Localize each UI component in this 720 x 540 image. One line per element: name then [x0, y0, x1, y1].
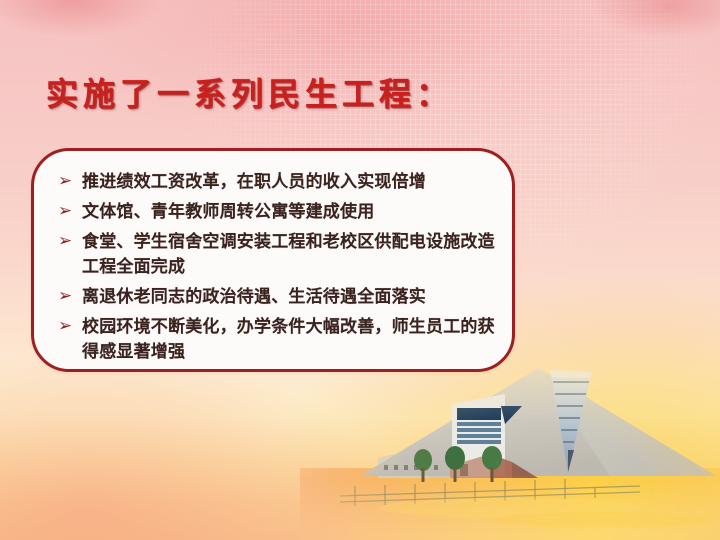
list-item-label: 食堂、学生宿舍空调安装工程和老校区供配电设施改造工程全面完成 [82, 229, 496, 279]
arrow-bullet-icon: ➢ [58, 284, 82, 309]
list-item: ➢ 食堂、学生宿舍空调安装工程和老校区供配电设施改造工程全面完成 [58, 229, 496, 279]
list-item-label: 校园环境不断美化，办学条件大幅改善，师生员工的获得感显著增强 [82, 314, 496, 364]
campus-building-illustration [300, 350, 720, 540]
page-title: 实施了一系列民生工程： [46, 74, 453, 114]
bullet-list: ➢ 推进绩效工资改革，在职人员的收入实现倍增 ➢ 文体馆、青年教师周转公寓等建成… [58, 169, 496, 369]
arrow-bullet-icon: ➢ [58, 199, 82, 224]
list-item-label: 推进绩效工资改革，在职人员的收入实现倍增 [82, 169, 496, 194]
list-item: ➢ 校园环境不断美化，办学条件大幅改善，师生员工的获得感显著增强 [58, 314, 496, 364]
slide-canvas: 实施了一系列民生工程： ➢ 推进绩效工资改革，在职人员的收入实现倍增 ➢ 文体馆… [0, 0, 720, 540]
list-item: ➢ 文体馆、青年教师周转公寓等建成使用 [58, 199, 496, 224]
list-item-label: 离退休老同志的政治待遇、生活待遇全面落实 [82, 284, 496, 309]
list-item: ➢ 离退休老同志的政治待遇、生活待遇全面落实 [58, 284, 496, 309]
arrow-bullet-icon: ➢ [58, 169, 82, 194]
arrow-bullet-icon: ➢ [58, 229, 82, 254]
list-item: ➢ 推进绩效工资改革，在职人员的收入实现倍增 [58, 169, 496, 194]
arrow-bullet-icon: ➢ [58, 314, 82, 339]
list-item-label: 文体馆、青年教师周转公寓等建成使用 [82, 199, 496, 224]
content-panel: ➢ 推进绩效工资改革，在职人员的收入实现倍增 ➢ 文体馆、青年教师周转公寓等建成… [31, 148, 515, 372]
